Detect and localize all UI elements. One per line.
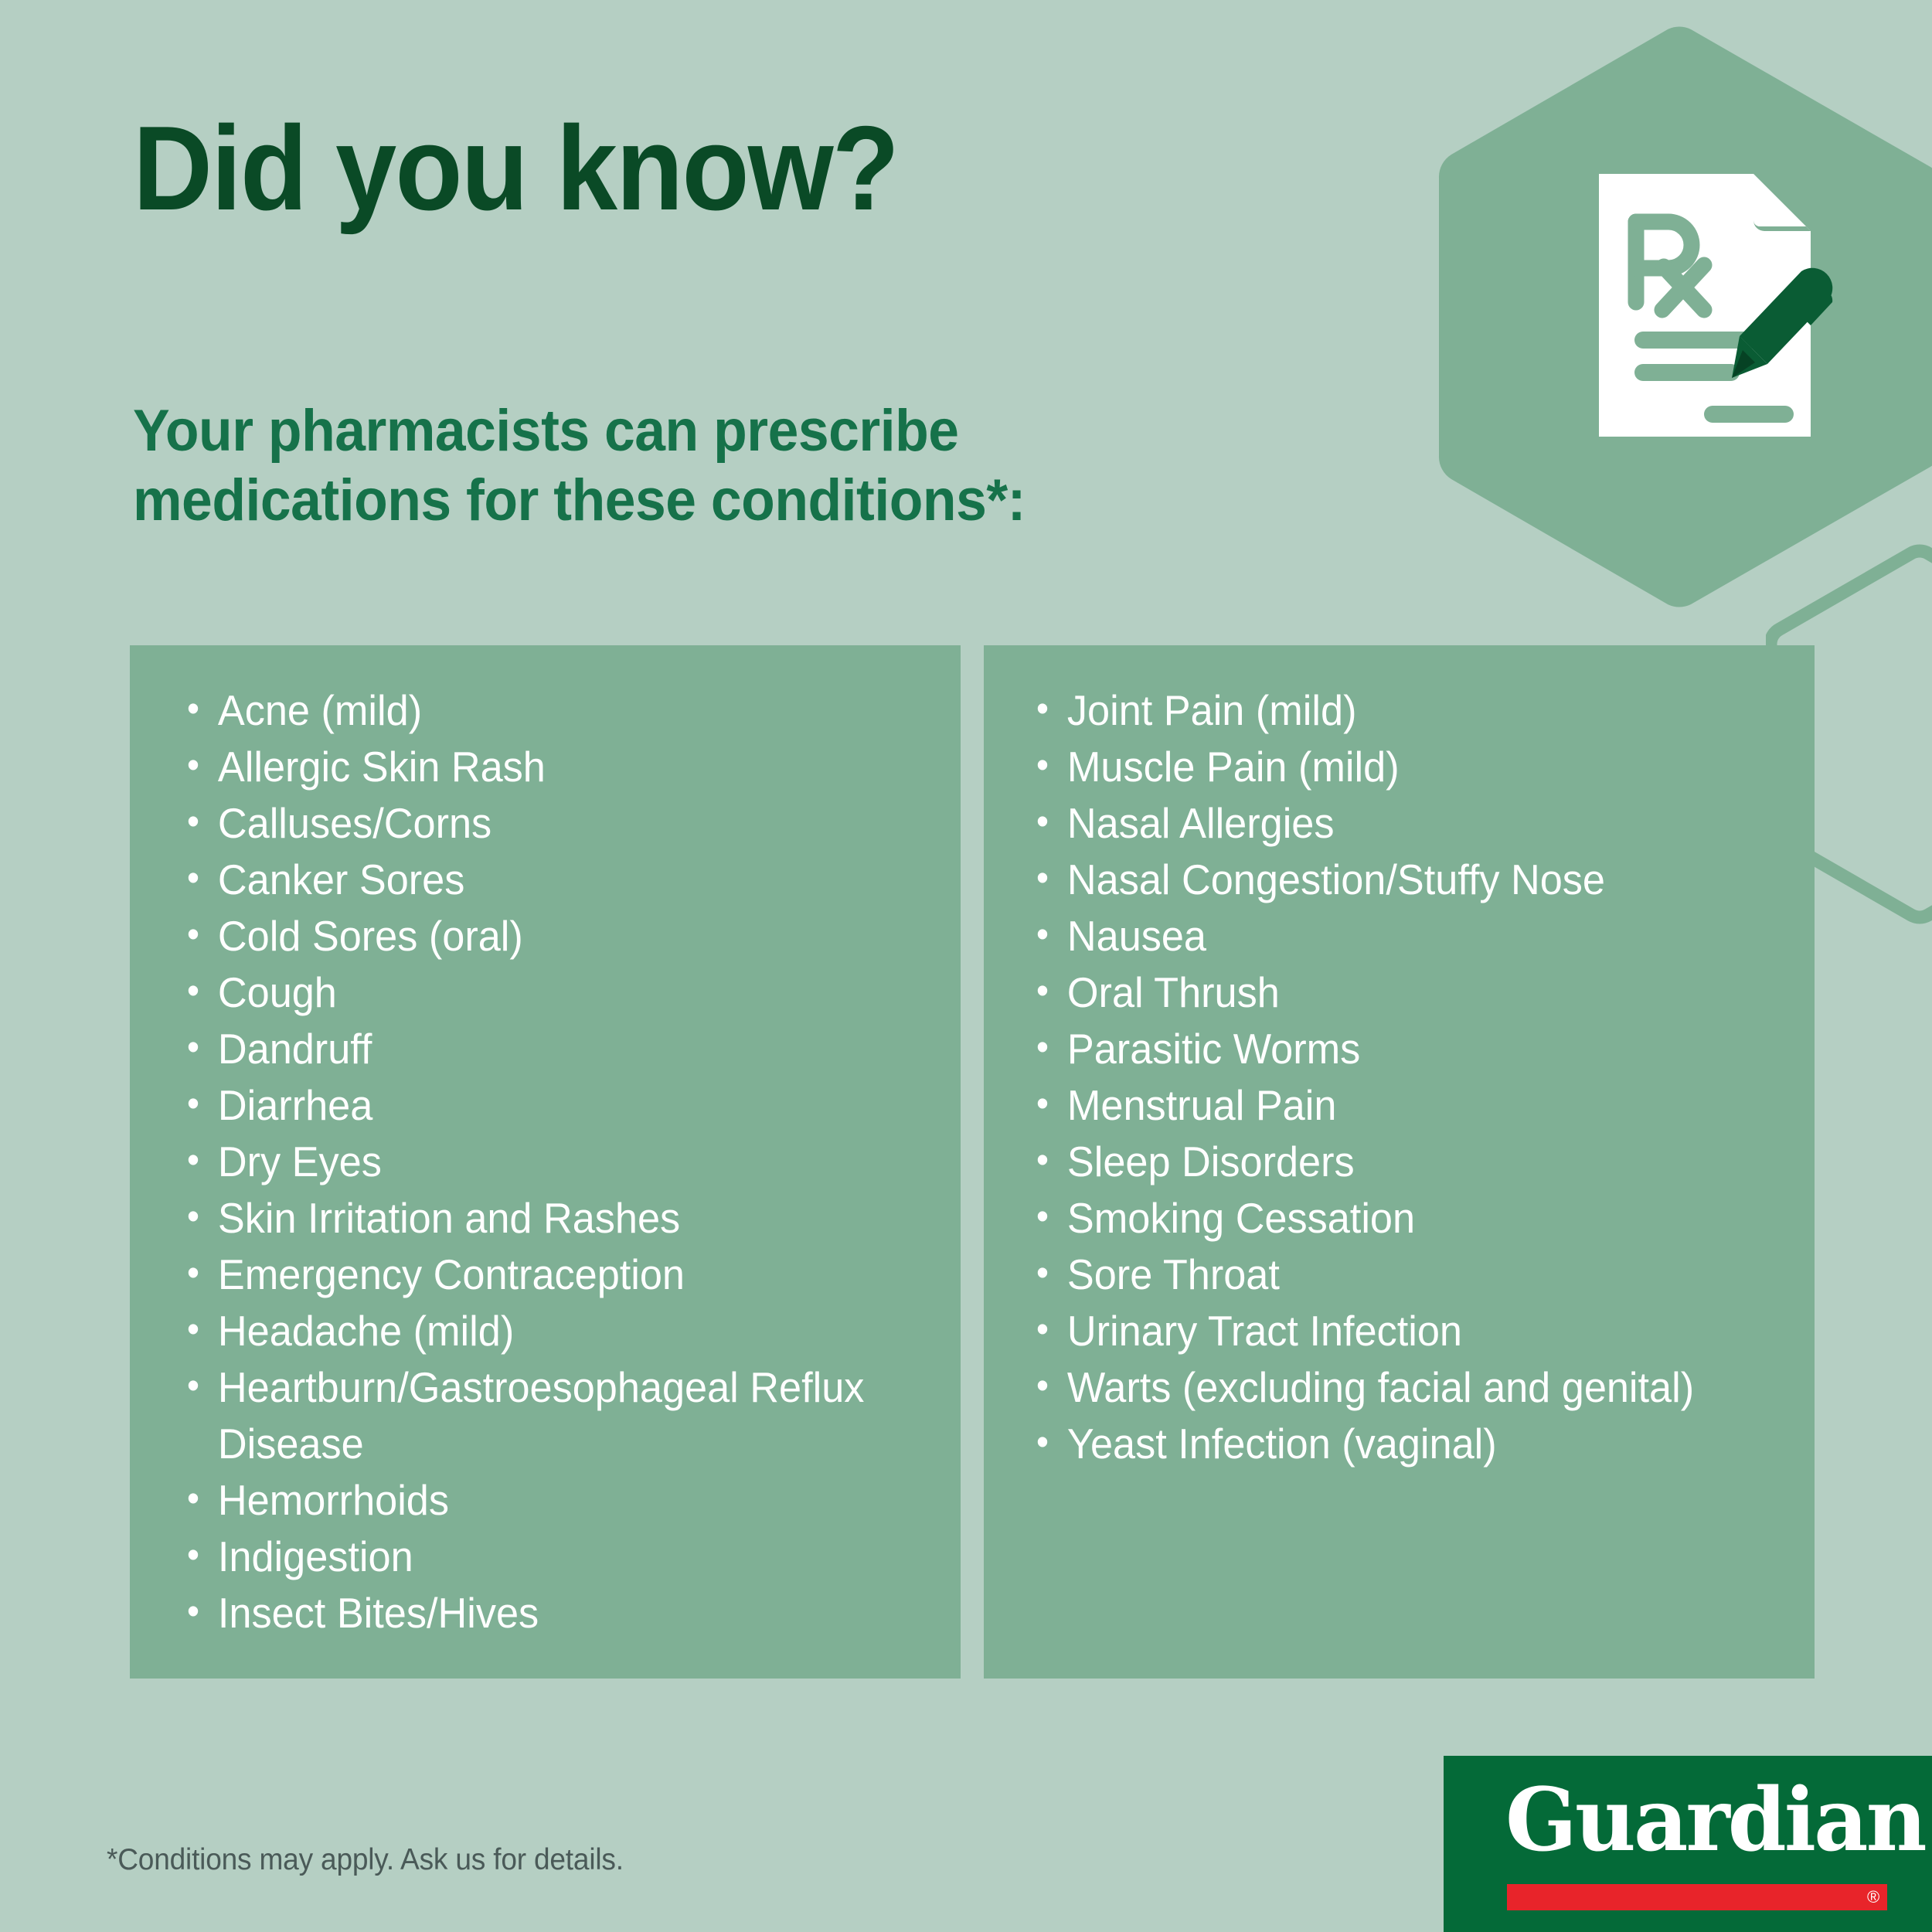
condition-list-item: Sore Throat <box>1036 1247 1728 1303</box>
prescription-document-icon <box>1588 166 1835 444</box>
condition-list-item: Menstrual Pain <box>1036 1077 1728 1134</box>
conditions-list-left: Acne (mild)Allergic Skin RashCalluses/Co… <box>187 682 961 1641</box>
condition-list-item: Warts (excluding facial and genital) <box>1036 1359 1728 1416</box>
condition-list-item: Emergency Contraception <box>187 1247 879 1303</box>
infographic-poster: Did you know? Your pharmacists can presc… <box>0 0 1932 1932</box>
condition-list-item: Cold Sores (oral) <box>187 908 879 964</box>
condition-list-item: Nasal Allergies <box>1036 795 1728 852</box>
condition-list-item: Nausea <box>1036 908 1728 964</box>
condition-list-item: Calluses/Corns <box>187 795 879 852</box>
condition-list-item: Cough <box>187 964 879 1021</box>
conditions-panel-left: Acne (mild)Allergic Skin RashCalluses/Co… <box>130 645 961 1679</box>
condition-list-item: Canker Sores <box>187 852 879 908</box>
condition-list-item: Heartburn/Gastroesophageal Reflux Diseas… <box>187 1359 879 1472</box>
conditions-panel-right: Joint Pain (mild)Muscle Pain (mild)Nasal… <box>984 645 1815 1679</box>
condition-list-item: Yeast Infection (vaginal) <box>1036 1416 1728 1472</box>
footnote-disclaimer: *Conditions may apply. Ask us for detail… <box>107 1843 624 1877</box>
condition-list-item: Parasitic Worms <box>1036 1021 1728 1077</box>
guardian-wordmark: Guardian <box>1505 1777 1925 1864</box>
conditions-list-right: Joint Pain (mild)Muscle Pain (mild)Nasal… <box>1036 682 1815 1472</box>
condition-list-item: Sleep Disorders <box>1036 1134 1728 1190</box>
condition-list-item: Dandruff <box>187 1021 879 1077</box>
condition-list-item: Oral Thrush <box>1036 964 1728 1021</box>
condition-list-item: Diarrhea <box>187 1077 879 1134</box>
subtitle-line-1: Your pharmacists can prescribe <box>133 396 1223 466</box>
condition-list-item: Skin Irritation and Rashes <box>187 1190 879 1247</box>
guardian-red-bar <box>1507 1884 1887 1910</box>
condition-list-item: Nasal Congestion/Stuffy Nose <box>1036 852 1728 908</box>
condition-list-item: Indigestion <box>187 1529 879 1585</box>
page-title: Did you know? <box>133 108 898 228</box>
page-subtitle: Your pharmacists can prescribe medicatio… <box>133 396 1223 535</box>
condition-list-item: Hemorrhoids <box>187 1472 879 1529</box>
condition-list-item: Joint Pain (mild) <box>1036 682 1728 739</box>
condition-list-item: Insect Bites/Hives <box>187 1585 879 1641</box>
condition-list-item: Allergic Skin Rash <box>187 739 879 795</box>
condition-list-item: Dry Eyes <box>187 1134 879 1190</box>
condition-list-item: Acne (mild) <box>187 682 879 739</box>
condition-list-item: Smoking Cessation <box>1036 1190 1728 1247</box>
condition-list-item: Muscle Pain (mild) <box>1036 739 1728 795</box>
guardian-logo: Guardian ® <box>1444 1756 1932 1932</box>
condition-list-item: Headache (mild) <box>187 1303 879 1359</box>
subtitle-line-2: medications for these conditions*: <box>133 466 1223 536</box>
condition-list-item: Urinary Tract Infection <box>1036 1303 1728 1359</box>
registered-trademark-icon: ® <box>1867 1887 1879 1907</box>
